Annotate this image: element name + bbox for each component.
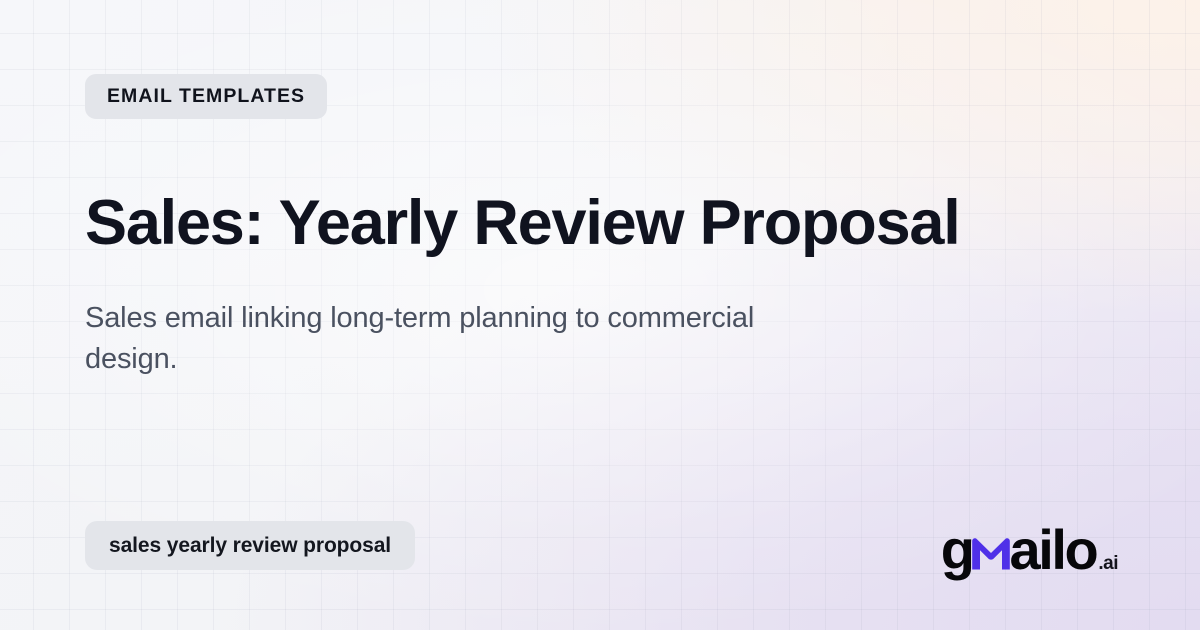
keyword-badge: sales yearly review proposal	[85, 521, 415, 570]
brand-suffix-text: ailo	[1010, 522, 1097, 578]
brand-wordmark: g ailo	[941, 522, 1097, 578]
page-title: Sales: Yearly Review Proposal	[85, 186, 1105, 260]
page-subtitle: Sales email linking long-term planning t…	[85, 298, 825, 380]
gmail-envelope-m-icon	[971, 537, 1011, 570]
og-card: EMAIL TEMPLATES Sales: Yearly Review Pro…	[0, 0, 1200, 630]
brand-prefix-text: g	[941, 522, 973, 578]
brand-logo: g ailo .ai	[941, 522, 1118, 578]
card-content: EMAIL TEMPLATES Sales: Yearly Review Pro…	[0, 0, 1200, 630]
category-badge: EMAIL TEMPLATES	[85, 74, 327, 119]
brand-tld-text: .ai	[1098, 554, 1118, 573]
